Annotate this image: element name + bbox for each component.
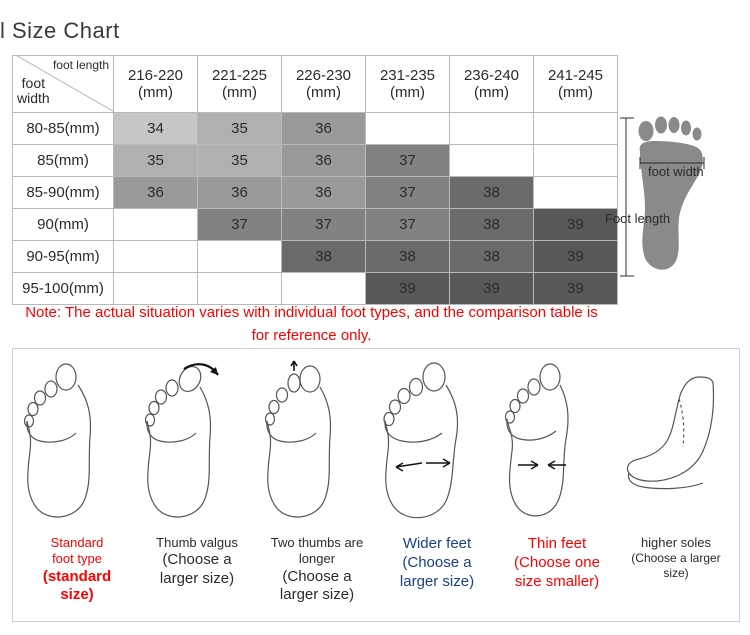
size-cell-r1-c1: 35 — [198, 145, 282, 177]
column-header-unit-5: (mm) — [558, 84, 593, 101]
row-header-2: 85-90(mm) — [13, 177, 114, 209]
foot-type-wider-feet-caption: Wider feet (Choose a larger size) — [377, 535, 497, 591]
column-header-unit-3: (mm) — [390, 84, 425, 101]
size-cell-r2-c1: 36 — [198, 177, 282, 209]
foot-type-wider-feet-line-0: Wider feet — [377, 535, 497, 554]
size-cell-r3-c2: 37 — [282, 209, 366, 241]
column-header-4: 236-240 (mm) — [450, 56, 534, 113]
wider-feet-icon — [378, 355, 496, 535]
size-cell-r4-c3: 38 — [366, 241, 450, 273]
size-cell-r2-c0: 36 — [114, 177, 198, 209]
size-chart-table: foot length footwidth 216-220 (mm) 221-2… — [12, 55, 618, 305]
foot-type-two-thumbs-longer: Two thumbs are longer (Choose a larger s… — [257, 355, 377, 615]
foot-type-thin-feet: Thin feet (Choose one size smaller) — [497, 355, 617, 615]
foot-types-panel: Standard foot type (standard size) Thumb… — [12, 348, 740, 622]
size-cell-r4-c0 — [114, 241, 198, 273]
column-header-unit-1: (mm) — [222, 84, 257, 101]
size-cell-r4-c2: 38 — [282, 241, 366, 273]
foot-type-thumb-valgus-caption: Thumb valgus (Choose a larger size) — [137, 535, 257, 589]
size-cell-r1-c3: 37 — [366, 145, 450, 177]
row-header-4: 90-95(mm) — [13, 241, 114, 273]
foot-type-higher-soles: higher soles (Choose a larger size) — [617, 355, 735, 615]
column-header-range-3: 231-235 — [380, 67, 435, 84]
row-header-3: 90(mm) — [13, 209, 114, 241]
foot-type-higher-soles-line-0: higher soles — [617, 535, 735, 551]
foot-type-thin-feet-emph-1: size smaller) — [497, 573, 617, 592]
foot-type-thin-feet-emph-0: (Choose one — [497, 554, 617, 573]
size-cell-r3-c3: 37 — [366, 209, 450, 241]
foot-type-wider-feet: Wider feet (Choose a larger size) — [377, 355, 497, 615]
column-header-3: 231-235 (mm) — [366, 56, 450, 113]
size-cell-r2-c5 — [534, 177, 618, 209]
foot-type-standard-line-1: foot type — [17, 551, 137, 567]
table-note: Note: The actual situation varies with i… — [24, 302, 599, 347]
foot-type-standard-caption: Standard foot type (standard size) — [17, 535, 137, 605]
table-row: 85(mm)35353637 — [13, 145, 618, 177]
corner-length-label: foot length — [53, 58, 109, 72]
column-header-2: 226-230 (mm) — [282, 56, 366, 113]
size-cell-r3-c4: 38 — [450, 209, 534, 241]
size-cell-r1-c2: 36 — [282, 145, 366, 177]
foot-type-higher-soles-caption: higher soles (Choose a larger size) — [617, 535, 735, 581]
table-row: 90(mm)3737373839 — [13, 209, 618, 241]
size-cell-r2-c3: 37 — [366, 177, 450, 209]
thumb-valgus-foot-icon — [138, 355, 256, 535]
size-cell-r0-c4 — [450, 113, 534, 145]
size-cell-r0-c3 — [366, 113, 450, 145]
column-header-range-4: 236-240 — [464, 67, 519, 84]
column-header-unit-2: (mm) — [306, 84, 341, 101]
column-header-range-2: 226-230 — [296, 67, 351, 84]
two-thumbs-longer-foot-icon — [258, 355, 376, 535]
size-cell-r5-c5: 39 — [534, 273, 618, 305]
foot-type-higher-soles-emph-1: size) — [617, 566, 735, 581]
column-header-1: 221-225 (mm) — [198, 56, 282, 113]
size-cell-r0-c0: 34 — [114, 113, 198, 145]
size-cell-r2-c4: 38 — [450, 177, 534, 209]
corner-width-label: footwidth — [17, 76, 50, 107]
size-cell-r2-c2: 36 — [282, 177, 366, 209]
table-corner-cell: foot length footwidth — [13, 56, 114, 113]
foot-type-two-thumbs-longer-line-1: longer — [257, 551, 377, 567]
column-header-range-0: 216-220 — [128, 67, 183, 84]
table-row: 95-100(mm)393939 — [13, 273, 618, 305]
foot-type-standard-line-0: Standard — [17, 535, 137, 551]
column-header-unit-0: (mm) — [138, 84, 173, 101]
column-header-0: 216-220 (mm) — [114, 56, 198, 113]
foot-type-standard-emph-0: (standard — [17, 568, 137, 587]
size-cell-r1-c4 — [450, 145, 534, 177]
size-cell-r0-c2: 36 — [282, 113, 366, 145]
page-title: l Size Chart — [0, 18, 120, 44]
foot-width-caption: foot width — [648, 164, 704, 179]
size-cell-r5-c2 — [282, 273, 366, 305]
foot-type-standard: Standard foot type (standard size) — [17, 355, 137, 615]
foot-type-standard-emph-1: size) — [17, 586, 137, 605]
row-header-0: 80-85(mm) — [13, 113, 114, 145]
size-cell-r4-c1 — [198, 241, 282, 273]
row-header-1: 85(mm) — [13, 145, 114, 177]
table-body: 80-85(mm)34353685(mm)3535363785-90(mm)36… — [13, 113, 618, 305]
foot-type-two-thumbs-longer-emph-0: (Choose a — [257, 568, 377, 587]
foot-type-thumb-valgus-line-0: Thumb valgus — [137, 535, 257, 551]
standard-foot-icon — [18, 355, 136, 535]
table-header-row: foot length footwidth 216-220 (mm) 221-2… — [13, 56, 618, 113]
foot-type-two-thumbs-longer-line-0: Two thumbs are — [257, 535, 377, 551]
thin-feet-icon — [498, 355, 616, 535]
foot-type-thumb-valgus-emph-1: larger size) — [137, 570, 257, 589]
size-cell-r4-c5: 39 — [534, 241, 618, 273]
size-cell-r5-c4: 39 — [450, 273, 534, 305]
table-row: 85-90(mm)3636363738 — [13, 177, 618, 209]
column-header-5: 241-245 (mm) — [534, 56, 618, 113]
size-cell-r3-c1: 37 — [198, 209, 282, 241]
foot-measurement-diagram: foot width Foot length — [612, 108, 742, 288]
size-cell-r0-c1: 35 — [198, 113, 282, 145]
foot-type-higher-soles-emph-0: (Choose a larger — [617, 551, 735, 566]
size-cell-r5-c1 — [198, 273, 282, 305]
foot-length-caption: Foot length — [605, 211, 670, 226]
foot-type-wider-feet-emph-0: (Choose a — [377, 554, 497, 573]
table-row: 90-95(mm)38383839 — [13, 241, 618, 273]
foot-type-two-thumbs-longer-emph-1: larger size) — [257, 586, 377, 605]
column-header-unit-4: (mm) — [474, 84, 509, 101]
column-header-range-1: 221-225 — [212, 67, 267, 84]
size-cell-r5-c3: 39 — [366, 273, 450, 305]
foot-type-wider-feet-emph-1: larger size) — [377, 573, 497, 592]
foot-type-thumb-valgus: Thumb valgus (Choose a larger size) — [137, 355, 257, 615]
size-cell-r1-c5 — [534, 145, 618, 177]
foot-type-thin-feet-line-0: Thin feet — [497, 535, 617, 554]
foot-outline-icon — [612, 108, 742, 288]
foot-type-thumb-valgus-emph-0: (Choose a — [137, 551, 257, 570]
size-cell-r3-c0 — [114, 209, 198, 241]
size-cell-r5-c0 — [114, 273, 198, 305]
row-header-5: 95-100(mm) — [13, 273, 114, 305]
foot-type-thin-feet-caption: Thin feet (Choose one size smaller) — [497, 535, 617, 591]
size-cell-r1-c0: 35 — [114, 145, 198, 177]
size-chart-table-wrapper: foot length footwidth 216-220 (mm) 221-2… — [12, 55, 612, 305]
size-cell-r4-c4: 38 — [450, 241, 534, 273]
size-cell-r0-c5 — [534, 113, 618, 145]
foot-type-two-thumbs-longer-caption: Two thumbs are longer (Choose a larger s… — [257, 535, 377, 605]
column-header-range-5: 241-245 — [548, 67, 603, 84]
table-row: 80-85(mm)343536 — [13, 113, 618, 145]
higher-soles-foot-side-icon — [617, 355, 735, 535]
